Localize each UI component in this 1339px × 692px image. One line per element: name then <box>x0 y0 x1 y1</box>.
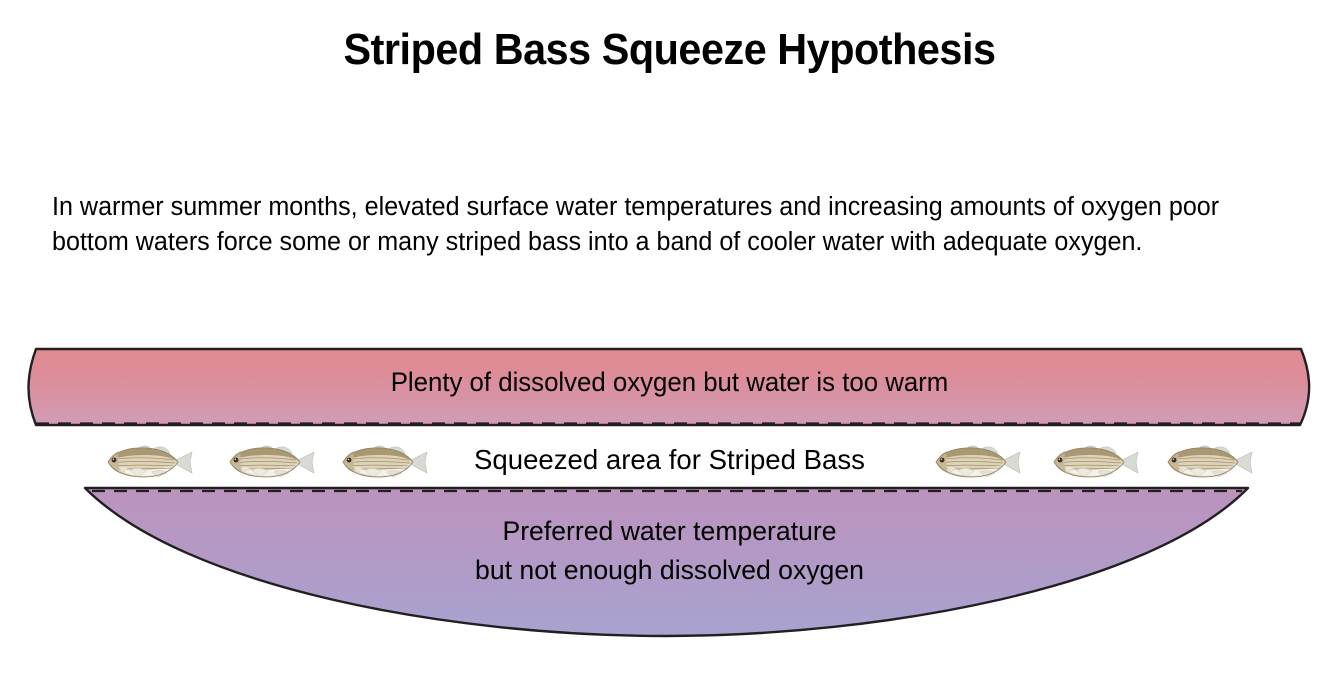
striped-bass-fish-icon <box>222 440 318 484</box>
page-title: Striped Bass Squeeze Hypothesis <box>40 22 1299 78</box>
striped-bass-fish-icon <box>1046 440 1142 484</box>
cold-layer-label-line-2: but not enough dissolved oxygen <box>10 551 1329 590</box>
striped-bass-fish-icon <box>100 440 196 484</box>
warm-layer-label: Plenty of dissolved oxygen but water is … <box>30 364 1309 400</box>
striped-bass-fish-icon <box>1160 440 1256 484</box>
squeeze-diagram: Plenty of dissolved oxygen but water is … <box>0 330 1339 660</box>
cold-layer-label-line-1: Preferred water temperature <box>10 512 1329 551</box>
intro-paragraph: In warmer summer months, elevated surfac… <box>52 190 1276 260</box>
striped-bass-fish-icon <box>335 440 431 484</box>
striped-bass-fish-icon <box>928 440 1024 484</box>
slide-page: Striped Bass Squeeze Hypothesis In warme… <box>0 0 1339 692</box>
cold-layer-label: Preferred water temperature but not enou… <box>10 512 1329 590</box>
